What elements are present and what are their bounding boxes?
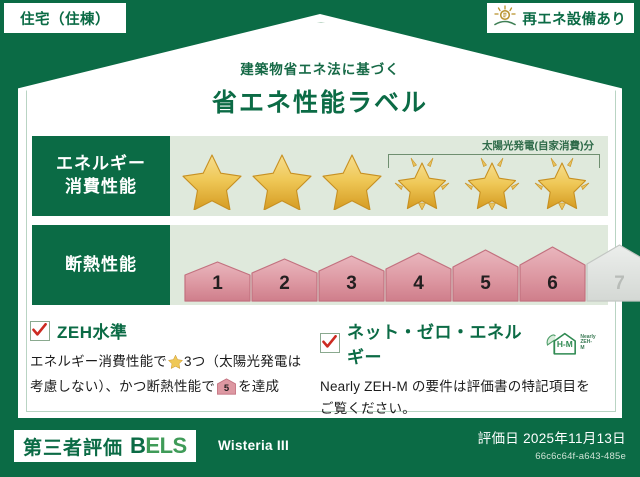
building-type-label: 住宅（住棟） [20,8,110,29]
checkbox-checked-icon [320,333,340,353]
insulation-grade-house: 4 [385,252,452,302]
insulation-grade-house: 5 [452,249,519,302]
star-icon [168,354,183,376]
label-heading: 建築物省エネ法に基づく 省エネ性能ラベル [0,58,640,119]
criteria-section: ZEH水準 エネルギー消費性能で3つ（太陽光発電は考慮しない）、かつ断熱性能で5… [30,318,610,421]
criterion-zeh-text-part1: エネルギー消費性能で [30,354,167,369]
insulation-grade-number: 7 [586,273,640,295]
star-icon [318,150,386,212]
renewable-equipment-label: 再エネ設備あり [522,8,626,29]
criterion-zeh-suijun: ZEH水準 エネルギー消費性能で3つ（太陽光発電は考慮しない）、かつ断熱性能で5… [30,318,320,421]
insulation-grade-scale: 1 2 3 [170,244,608,302]
energy-performance-label: 住宅（住棟） 再エネ設備あり 建築物省エネ法に基づく 省エネ性能ラベル [0,0,640,477]
star-icon-solar [458,150,526,212]
insulation-grade-inline-number: 5 [217,381,236,397]
solar-sun-icon [492,5,518,32]
checkbox-checked-icon [30,321,50,341]
zeh-m-house-logo: H-M Nearly ZEH-M [545,331,596,356]
bels-logo: BELS [130,433,187,459]
insulation-grade-house: 2 [251,258,318,302]
insulation-grade-number: 6 [519,273,586,295]
svg-text:H-M: H-M [557,338,573,348]
row-energy-performance-label: エネルギー 消費性能 [32,136,170,216]
row-energy-performance-label-line1: エネルギー [56,153,146,176]
zeh-m-logo-caption-line2: ZEH-M [580,339,592,351]
criterion-net-zero-energy-title: ネット・ゼロ・エネルギー [347,318,534,368]
insulation-grade-house-inactive: 7 [586,244,640,302]
row-energy-performance: エネルギー 消費性能 太陽光発電(自家消費)分 [32,136,608,216]
insulation-grade-inline-icon: 5 [217,378,236,395]
metric-rows: エネルギー 消費性能 太陽光発電(自家消費)分 [32,136,608,314]
evaluation-id: 66c6c64f-a643-485e [478,451,626,462]
criterion-net-zero-energy: ネット・ゼロ・エネルギー H-M Nearly ZEH-M Nearly ZEH… [320,318,610,421]
star-rating [170,150,608,212]
row-insulation-performance-body: 1 2 3 [170,225,608,305]
criterion-zeh-text-part3: を達成 [238,379,279,394]
building-type-chip: 住宅（住棟） [4,3,126,33]
insulation-grade-number: 2 [251,273,318,295]
row-energy-performance-body: 太陽光発電(自家消費)分 [170,136,608,216]
criterion-net-zero-energy-body: Nearly ZEH-M の要件は評価書の特記項目をご覧ください。 [320,376,596,421]
evaluation-date: 評価日 2025年11月13日 [478,427,626,447]
row-insulation-performance-label-text: 断熱性能 [65,254,137,277]
insulation-grade-house: 1 [184,261,251,302]
insulation-grade-number: 1 [184,273,251,295]
star-icon [178,150,246,212]
criterion-zeh-suijun-body: エネルギー消費性能で3つ（太陽光発電は考慮しない）、かつ断熱性能で5を達成 [30,351,306,399]
star-icon-solar [388,150,456,212]
row-insulation-performance-label: 断熱性能 [32,225,170,305]
zeh-m-logo-caption: Nearly ZEH-M [580,335,596,352]
heading-title: 省エネ性能ラベル [0,83,640,119]
bels-logo-els: ELS [145,433,186,458]
bels-logo-b: B [130,433,145,458]
insulation-grade-number: 5 [452,273,519,295]
row-insulation-performance: 断熱性能 1 [32,225,608,305]
renewable-equipment-chip: 再エネ設備あり [487,3,634,33]
building-name: Wisteria III [218,438,289,453]
star-icon [248,150,316,212]
third-party-evaluation-label: 第三者評価 [23,433,123,460]
insulation-grade-number: 4 [385,273,452,295]
row-energy-performance-label-line2: 消費性能 [65,176,137,199]
insulation-grade-house: 3 [318,255,385,302]
evaluation-date-label: 評価日 [478,431,519,446]
criterion-zeh-suijun-header: ZEH水準 [30,318,306,343]
evaluation-info: 評価日 2025年11月13日 66c6c64f-a643-485e [478,427,626,462]
insulation-grade-house: 6 [519,246,586,302]
heading-subtitle: 建築物省エネ法に基づく [0,58,640,78]
criterion-zeh-suijun-title: ZEH水準 [57,318,128,343]
bels-third-party-chip: 第三者評価 BELS [14,430,196,462]
footer-bar: 第三者評価 BELS Wisteria III 評価日 2025年11月13日 … [0,418,640,477]
evaluation-date-value: 2025年11月13日 [523,431,626,446]
star-icon-solar [528,150,596,212]
insulation-grade-number: 3 [318,273,385,295]
criterion-net-zero-energy-header: ネット・ゼロ・エネルギー H-M Nearly ZEH-M [320,318,596,368]
